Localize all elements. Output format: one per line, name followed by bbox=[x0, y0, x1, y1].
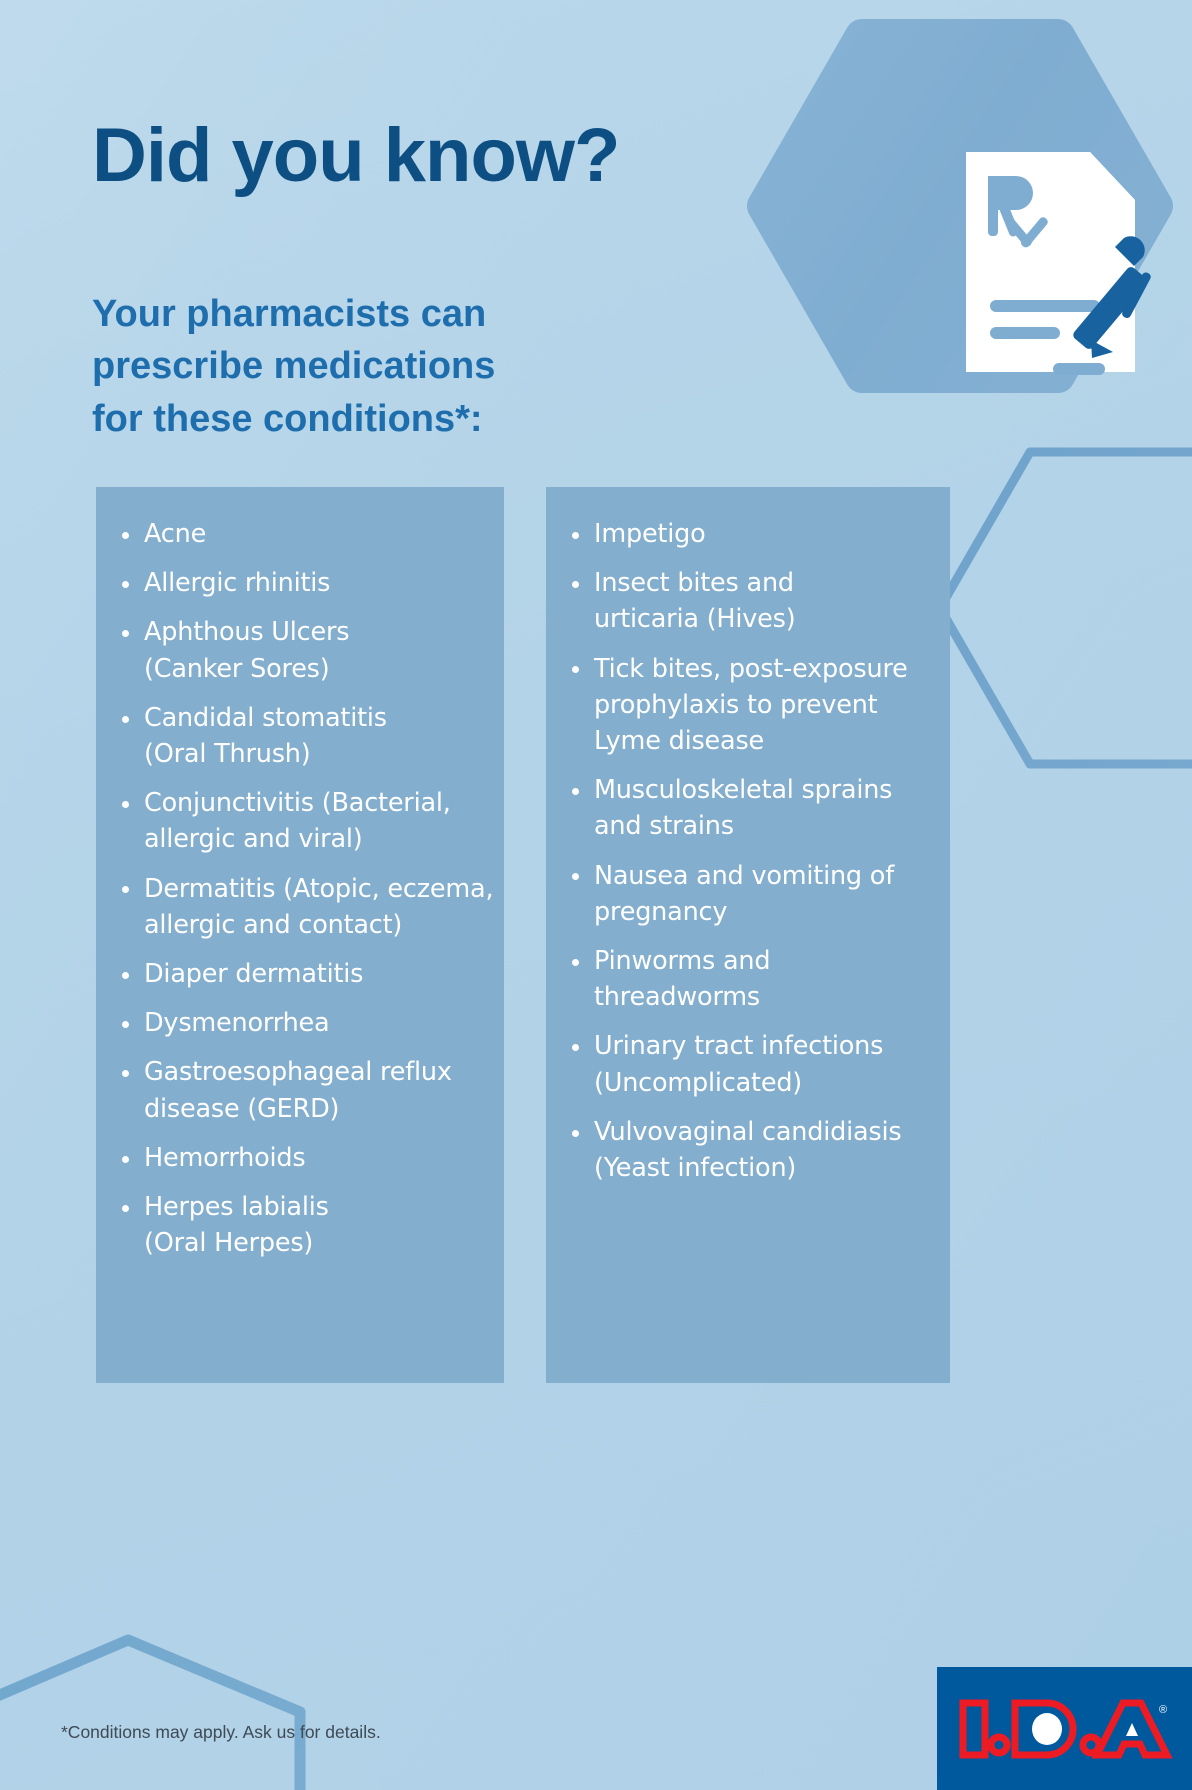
footnote: *Conditions may apply. Ask us for detail… bbox=[61, 1722, 381, 1743]
bullet-icon bbox=[122, 972, 129, 979]
subtitle-line-3: for these conditions*: bbox=[92, 393, 652, 445]
condition-label: (Uncomplicated) bbox=[594, 1065, 958, 1101]
condition-label: Tick bites, post-exposure bbox=[594, 651, 958, 687]
bullet-icon bbox=[122, 801, 129, 808]
condition-list-item: Aphthous Ulcers(Canker Sores) bbox=[118, 614, 510, 686]
subtitle-line-1: Your pharmacists can bbox=[92, 288, 652, 340]
condition-label: Acne bbox=[144, 516, 510, 552]
hexagon-badge bbox=[764, 36, 1156, 376]
bullet-icon bbox=[122, 630, 129, 637]
condition-list-item: Tick bites, post-exposureprophylaxis to … bbox=[568, 651, 958, 760]
condition-list-item: Diaper dermatitis bbox=[118, 956, 510, 992]
bullet-icon bbox=[122, 581, 129, 588]
condition-label: prophylaxis to prevent bbox=[594, 687, 958, 723]
rx-symbol bbox=[988, 176, 1049, 249]
condition-list-item: Pinworms andthreadworms bbox=[568, 943, 958, 1015]
condition-list-item: Herpes labialis(Oral Herpes) bbox=[118, 1189, 510, 1261]
document-line-1 bbox=[990, 300, 1100, 312]
condition-label: urticaria (Hives) bbox=[594, 601, 958, 637]
condition-label: (Yeast infection) bbox=[594, 1150, 958, 1186]
condition-label: and strains bbox=[594, 808, 958, 844]
bullet-icon bbox=[572, 532, 579, 539]
condition-label: disease (GERD) bbox=[144, 1091, 510, 1127]
condition-label: Diaper dermatitis bbox=[144, 956, 510, 992]
condition-list-item: Urinary tract infections(Uncomplicated) bbox=[568, 1028, 958, 1100]
condition-label: Musculoskeletal sprains bbox=[594, 772, 958, 808]
condition-list-item: Allergic rhinitis bbox=[118, 565, 510, 601]
condition-label: Lyme disease bbox=[594, 723, 958, 759]
conditions-list-left: AcneAllergic rhinitisAphthous Ulcers(Can… bbox=[118, 516, 510, 1274]
page-subtitle: Your pharmacists can prescribe medicatio… bbox=[92, 288, 652, 445]
condition-list-item: Dysmenorrhea bbox=[118, 1005, 510, 1041]
bullet-icon bbox=[122, 886, 129, 893]
condition-label: Allergic rhinitis bbox=[144, 565, 510, 601]
condition-label: Urinary tract infections bbox=[594, 1028, 958, 1064]
condition-label: (Oral Herpes) bbox=[144, 1225, 510, 1261]
bullet-icon bbox=[122, 1156, 129, 1163]
condition-label: Vulvovaginal candidiasis bbox=[594, 1114, 958, 1150]
prescription-document bbox=[966, 152, 1135, 372]
condition-label: Dysmenorrhea bbox=[144, 1005, 510, 1041]
bullet-icon bbox=[572, 581, 579, 588]
bullet-icon bbox=[572, 959, 579, 966]
document-folded-corner bbox=[1090, 152, 1135, 200]
condition-label: allergic and viral) bbox=[144, 821, 510, 857]
condition-list-item: Hemorrhoids bbox=[118, 1140, 510, 1176]
registered-mark: ® bbox=[1159, 1704, 1167, 1716]
condition-label: Herpes labialis bbox=[144, 1189, 510, 1225]
condition-list-item: Nausea and vomiting ofpregnancy bbox=[568, 858, 958, 930]
condition-label: (Canker Sores) bbox=[144, 651, 510, 687]
condition-label: Hemorrhoids bbox=[144, 1140, 510, 1176]
condition-list-item: Conjunctivitis (Bacterial,allergic and v… bbox=[118, 785, 510, 857]
condition-label: (Oral Thrush) bbox=[144, 736, 510, 772]
condition-label: Candidal stomatitis bbox=[144, 700, 510, 736]
condition-label: Pinworms and bbox=[594, 943, 958, 979]
condition-label: allergic and contact) bbox=[144, 907, 510, 943]
condition-label: pregnancy bbox=[594, 894, 958, 930]
bullet-icon bbox=[572, 666, 579, 673]
condition-list-item: Musculoskeletal sprainsand strains bbox=[568, 772, 958, 844]
condition-list-item: Gastroesophageal refluxdisease (GERD) bbox=[118, 1054, 510, 1126]
hexagon-outline-bottom-left bbox=[0, 1640, 300, 1790]
page-title: Did you know? bbox=[92, 118, 619, 194]
document-line-2 bbox=[990, 327, 1060, 339]
bullet-icon bbox=[572, 788, 579, 795]
subtitle-line-2: prescribe medications bbox=[92, 340, 652, 392]
bullet-icon bbox=[122, 1205, 129, 1212]
condition-label: Insect bites and bbox=[594, 565, 958, 601]
condition-list-item: Dermatitis (Atopic, eczema,allergic and … bbox=[118, 871, 510, 943]
condition-list-item: Insect bites andurticaria (Hives) bbox=[568, 565, 958, 637]
document-signature-line bbox=[1053, 363, 1105, 375]
ida-pharmacy-logo[interactable]: ® bbox=[937, 1667, 1192, 1790]
bullet-icon bbox=[122, 1021, 129, 1028]
bullet-icon bbox=[122, 1070, 129, 1077]
condition-list-item: Candidal stomatitis(Oral Thrush) bbox=[118, 700, 510, 772]
condition-label: Impetigo bbox=[594, 516, 958, 552]
pencil-icon bbox=[1071, 236, 1152, 358]
ida-logo-mark: ® bbox=[955, 1695, 1175, 1767]
bullet-icon bbox=[122, 716, 129, 723]
bullet-icon bbox=[572, 1044, 579, 1051]
condition-label: Conjunctivitis (Bacterial, bbox=[144, 785, 510, 821]
bullet-icon bbox=[572, 873, 579, 880]
condition-list-item: Vulvovaginal candidiasis(Yeast infection… bbox=[568, 1114, 958, 1186]
conditions-list-right: ImpetigoInsect bites andurticaria (Hives… bbox=[568, 516, 958, 1199]
condition-label: Nausea and vomiting of bbox=[594, 858, 958, 894]
condition-label: Gastroesophageal reflux bbox=[144, 1054, 510, 1090]
condition-list-item: Impetigo bbox=[568, 516, 958, 552]
condition-label: Aphthous Ulcers bbox=[144, 614, 510, 650]
bullet-icon bbox=[122, 532, 129, 539]
condition-list-item: Acne bbox=[118, 516, 510, 552]
condition-label: threadworms bbox=[594, 979, 958, 1015]
hexagon-outline-right bbox=[940, 452, 1192, 764]
bullet-icon bbox=[572, 1130, 579, 1137]
poster-canvas: Did you know? Your pharmacists can presc… bbox=[0, 0, 1192, 1790]
condition-label: Dermatitis (Atopic, eczema, bbox=[144, 871, 510, 907]
